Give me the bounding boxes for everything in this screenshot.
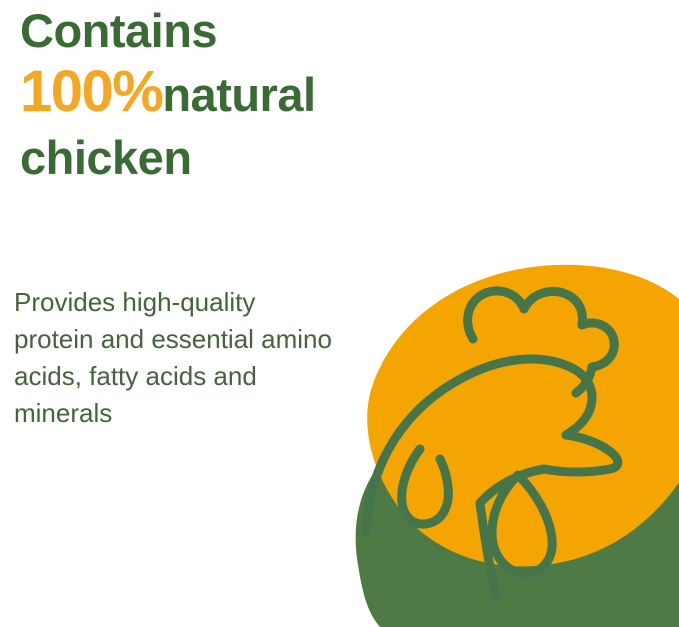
headline-line-3: chicken	[20, 128, 520, 188]
headline-line-1: Contains	[20, 2, 520, 59]
headline-percent-highlight: 100%	[20, 59, 162, 124]
headline-line-2: 100%natural	[20, 59, 520, 128]
body-description-text: Provides high-quality protein and essent…	[14, 284, 334, 432]
headline-natural-word: natural	[162, 68, 315, 121]
page-title: Contains 100%natural chicken	[20, 2, 520, 188]
chicken-illustration	[340, 245, 679, 627]
